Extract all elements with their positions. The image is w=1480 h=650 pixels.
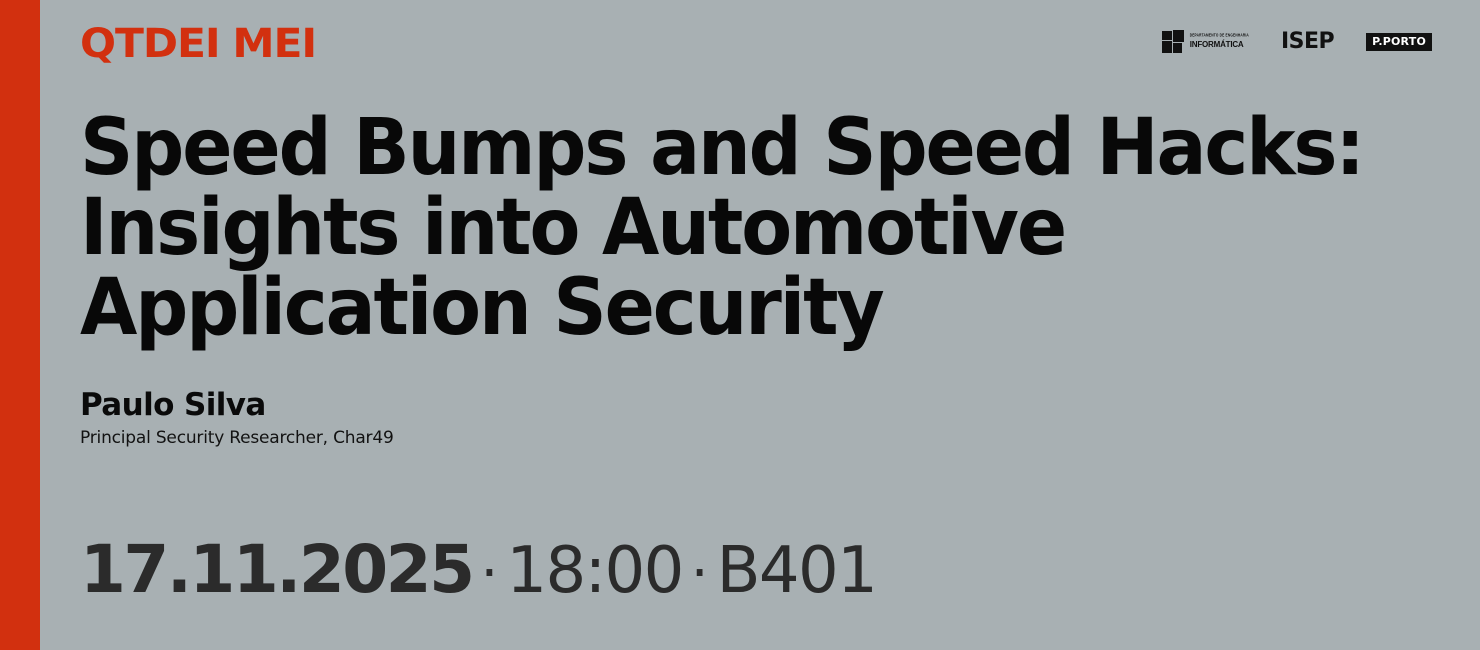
dei-logo-line1: DEPARTAMENTO DE ENGENHARIA — [1190, 34, 1249, 38]
event-time: 18:00 — [506, 535, 682, 607]
pporto-logo: P.PORTO — [1366, 33, 1432, 51]
detail-separator-1: · — [473, 538, 507, 610]
dei-squares-icon — [1162, 30, 1186, 54]
speaker-block: Paulo Silva Principal Security Researche… — [80, 387, 394, 449]
title-line-1: Speed Bumps and Speed Hacks: — [80, 108, 1401, 188]
speaker-name: Paulo Silva — [80, 387, 394, 423]
title-line-3: Application Security — [80, 268, 1401, 348]
title-line-2: Insights into Automotive — [80, 188, 1401, 268]
poster-header: QTDEIMEI DEPARTAMENTO DE ENGENHARIA INFO… — [80, 22, 1460, 72]
detail-separator-2: · — [683, 538, 717, 610]
event-date: 17.11.2025 — [80, 534, 473, 606]
event-poster: QTDEIMEI DEPARTAMENTO DE ENGENHARIA INFO… — [0, 0, 1480, 650]
brand-logo-mei: MEI — [232, 21, 316, 67]
dei-logo-line2: INFORMÁTICA — [1190, 41, 1249, 49]
isep-logo: ISEP — [1281, 31, 1334, 53]
event-details: 17.11.2025 · 18:00 · B401 — [80, 534, 876, 610]
dei-logo-text: DEPARTAMENTO DE ENGENHARIA INFORMÁTICA — [1190, 35, 1249, 48]
brand-logo-qtdei: QTDEI — [80, 21, 220, 67]
poster-content: QTDEIMEI DEPARTAMENTO DE ENGENHARIA INFO… — [40, 0, 1480, 650]
partner-logos: DEPARTAMENTO DE ENGENHARIA INFORMÁTICA I… — [1162, 30, 1432, 54]
brand-logo-qtdei-mei: QTDEIMEI — [80, 22, 316, 66]
dei-logo: DEPARTAMENTO DE ENGENHARIA INFORMÁTICA — [1162, 30, 1249, 54]
page-title: Speed Bumps and Speed Hacks: Insights in… — [80, 108, 1470, 348]
accent-bar-left — [0, 0, 40, 650]
event-room: B401 — [717, 535, 877, 607]
speaker-role: Principal Security Researcher, Char49 — [80, 427, 394, 449]
